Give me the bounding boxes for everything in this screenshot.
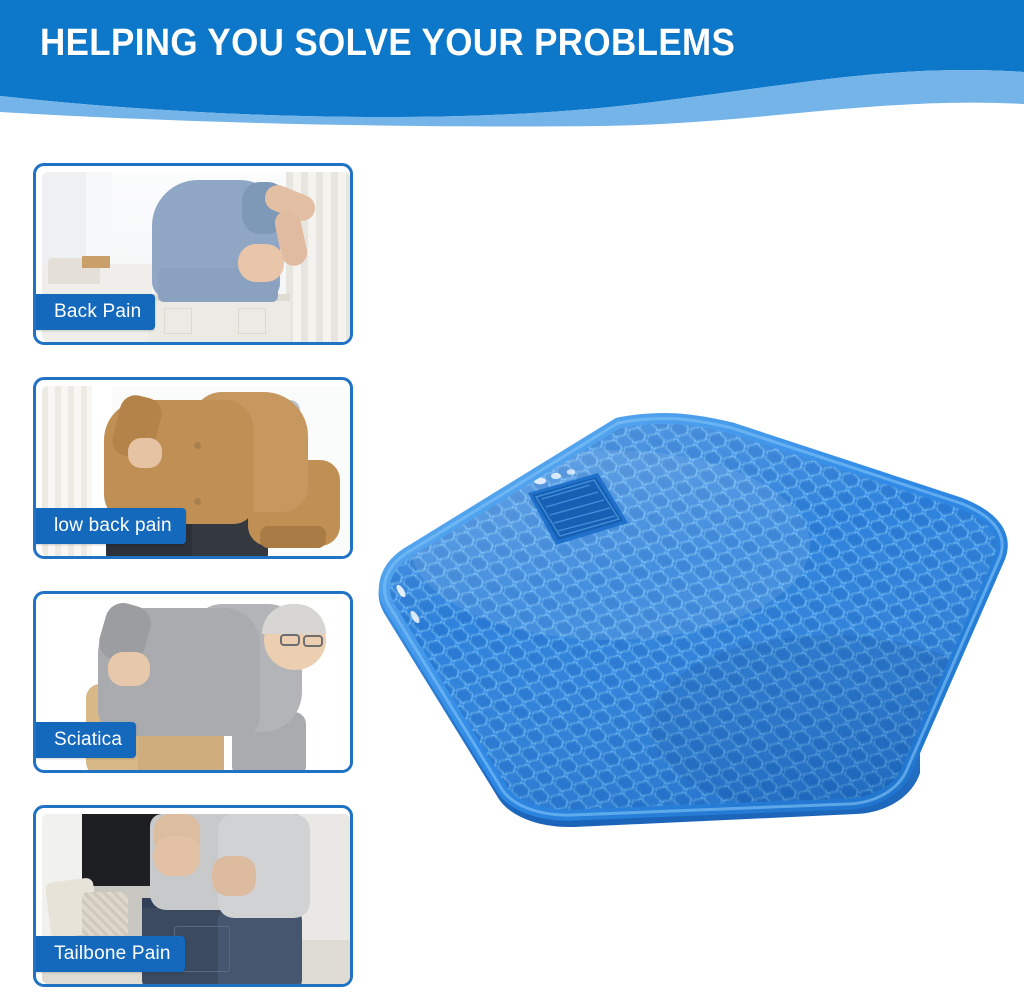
- problem-card-tailbone-pain[interactable]: Tailbone Pain: [33, 805, 353, 987]
- infographic-page: HELPING YOU SOLVE YOUR PROBLEMS Back Pai…: [0, 0, 1024, 993]
- problem-card-back-pain[interactable]: Back Pain: [33, 163, 353, 345]
- card-label-low-back-pain: low back pain: [36, 508, 186, 544]
- header-banner: HELPING YOU SOLVE YOUR PROBLEMS: [0, 0, 1024, 128]
- card-label-sciatica: Sciatica: [36, 722, 136, 758]
- problem-card-sciatica[interactable]: Sciatica: [33, 591, 353, 773]
- problem-card-list: Back Pain low back pain: [33, 163, 353, 987]
- page-title: HELPING YOU SOLVE YOUR PROBLEMS: [40, 22, 735, 65]
- product-image-gel-seat-cushion: [360, 395, 1024, 895]
- card-label-back-pain: Back Pain: [36, 294, 155, 330]
- problem-card-low-back-pain[interactable]: low back pain: [33, 377, 353, 559]
- card-label-tailbone-pain: Tailbone Pain: [36, 936, 185, 972]
- gel-cushion-graphic: [360, 395, 1024, 895]
